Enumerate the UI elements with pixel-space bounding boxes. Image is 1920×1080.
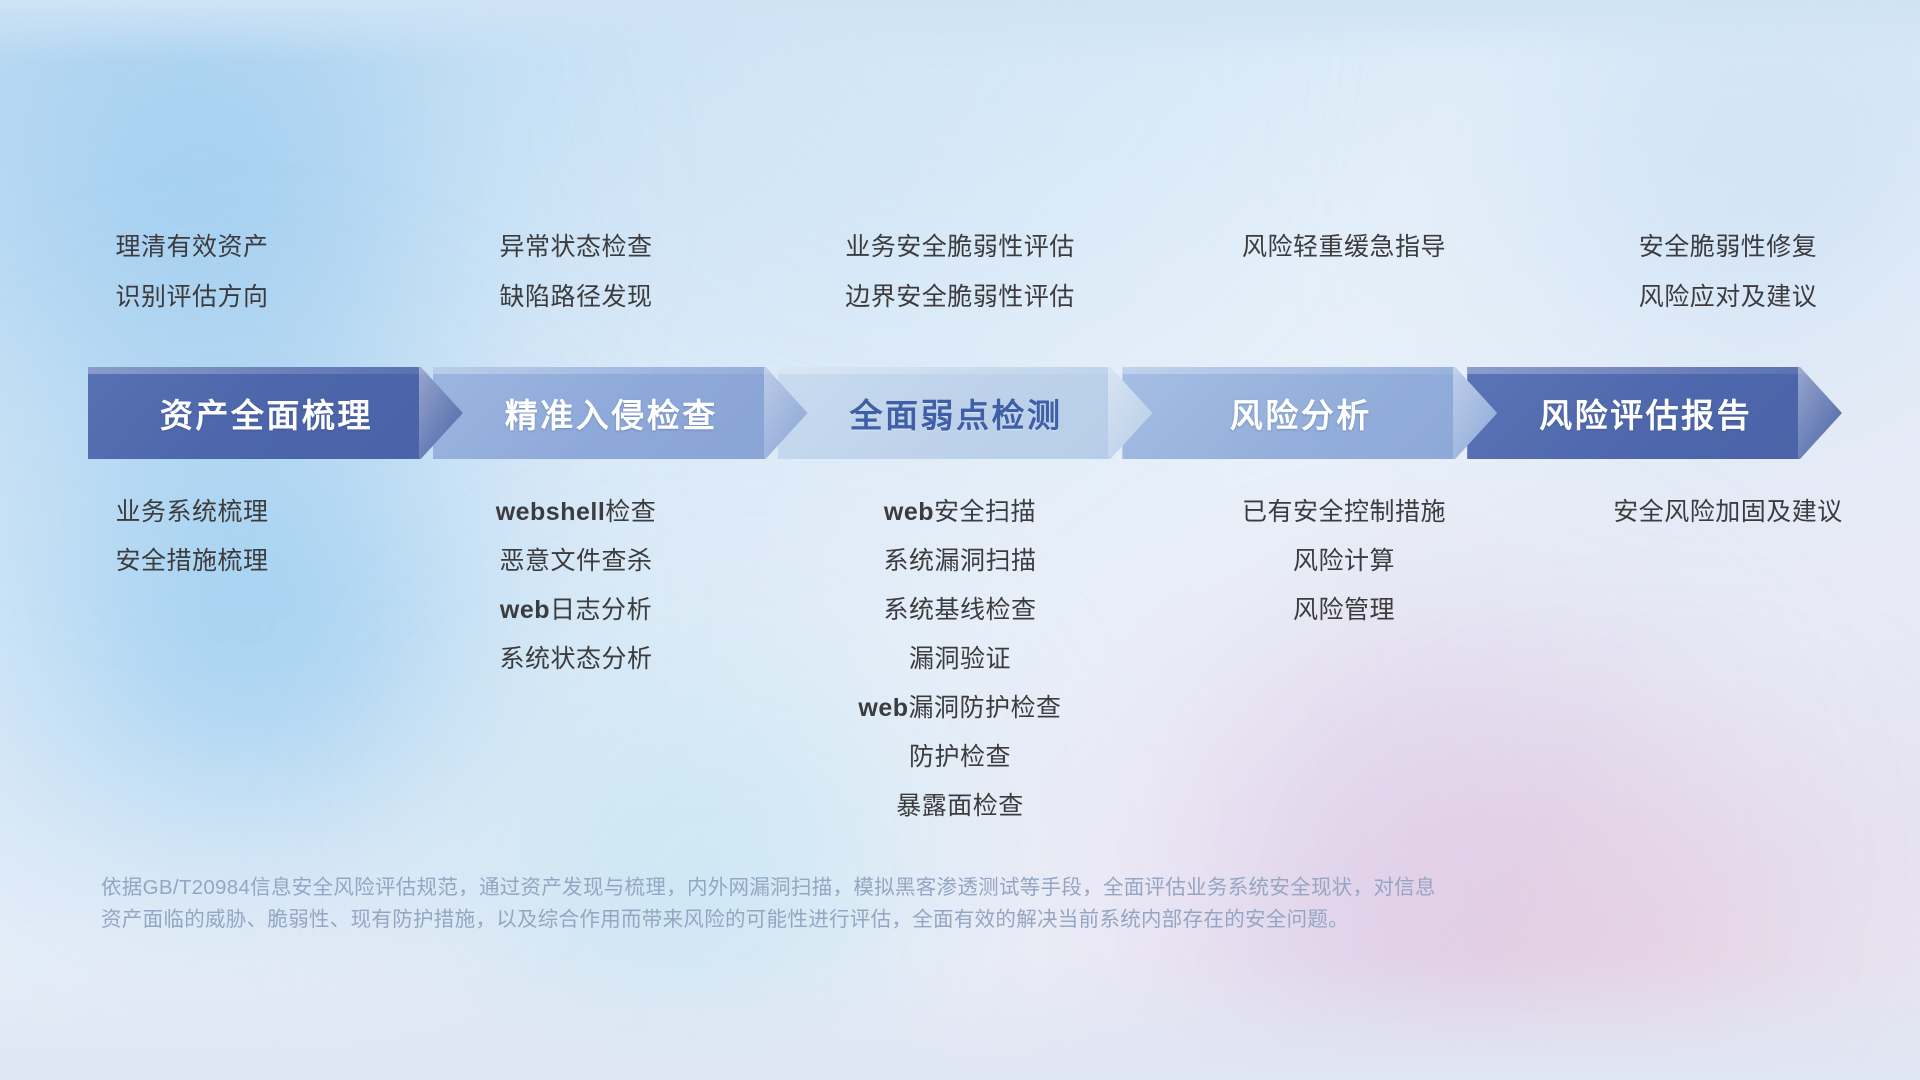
activity-text: 风险计算 bbox=[1293, 547, 1395, 575]
chevron-highlight bbox=[433, 367, 808, 374]
outcome-item: 边界安全脆弱性评估 bbox=[768, 285, 1152, 310]
outcome-item: 识别评估方向 bbox=[0, 285, 384, 310]
activity-item: 安全措施梳理 bbox=[0, 549, 384, 574]
activity-item: webshell检查 bbox=[384, 500, 768, 525]
activity-text: 漏洞防护检查 bbox=[909, 694, 1062, 722]
outcome-item: 缺陷路径发现 bbox=[384, 285, 768, 310]
stage-activities-1: 业务系统梳理 安全措施梳理 bbox=[0, 500, 384, 843]
stage-activities-5: 安全风险加固及建议 bbox=[1536, 500, 1920, 843]
stage-activities-3: web安全扫描 系统漏洞扫描 系统基线检查 漏洞验证 web漏洞防护检查 防护检… bbox=[768, 500, 1152, 843]
chevron-label: 风险评估报告 bbox=[1539, 389, 1752, 437]
activity-item: 业务系统梳理 bbox=[0, 500, 384, 525]
chevron-label: 资产全面梳理 bbox=[160, 389, 373, 437]
activity-text: 日志分析 bbox=[550, 596, 652, 624]
outcome-item: 业务安全脆弱性评估 bbox=[768, 235, 1152, 260]
stage-outcomes-2: 异常状态检查 缺陷路径发现 bbox=[384, 235, 768, 335]
chevron-highlight bbox=[778, 367, 1153, 374]
activity-text: 风险管理 bbox=[1293, 596, 1395, 624]
activity-item: web安全扫描 bbox=[768, 500, 1152, 525]
chevron-stage-5[interactable]: 风险评估报告 bbox=[1467, 367, 1842, 459]
chevron-highlight bbox=[1122, 367, 1497, 374]
activity-text: 已有安全控制措施 bbox=[1242, 498, 1446, 526]
activity-emphasis: webshell bbox=[496, 498, 606, 526]
outcome-item: 风险应对及建议 bbox=[1536, 285, 1920, 310]
footer-line-2: 资产面临的威胁、脆弱性、现有防护措施，以及综合作用而带来风险的可能性进行评估，全… bbox=[101, 904, 1591, 936]
activity-item: 暴露面检查 bbox=[768, 794, 1152, 819]
chevron-highlight bbox=[1467, 367, 1842, 374]
activity-text: 系统状态分析 bbox=[499, 645, 652, 673]
activity-text: 恶意文件查杀 bbox=[499, 547, 652, 575]
chevron-stage-2[interactable]: 精准入侵检查 bbox=[433, 367, 808, 459]
activity-item: web漏洞防护检查 bbox=[768, 696, 1152, 721]
stage-activities-2: webshell检查 恶意文件查杀 web日志分析 系统状态分析 bbox=[384, 500, 768, 843]
outcome-item: 风险轻重缓急指导 bbox=[1152, 235, 1536, 260]
stage-outcomes-5: 安全脆弱性修复 风险应对及建议 bbox=[1536, 235, 1920, 335]
stage-outcomes-4: 风险轻重缓急指导 bbox=[1152, 235, 1536, 335]
activity-emphasis: web bbox=[858, 694, 908, 722]
activity-text: 检查 bbox=[605, 498, 656, 526]
stage-outcomes-1: 理清有效资产 识别评估方向 bbox=[0, 235, 384, 335]
activity-text: 业务系统梳理 bbox=[115, 498, 268, 526]
activity-item: 恶意文件查杀 bbox=[384, 549, 768, 574]
activity-text: 安全风险加固及建议 bbox=[1613, 498, 1843, 526]
activity-text: 暴露面检查 bbox=[896, 792, 1024, 820]
activity-item: 系统基线检查 bbox=[768, 598, 1152, 623]
outcome-item: 安全脆弱性修复 bbox=[1536, 235, 1920, 260]
activity-text: 系统基线检查 bbox=[883, 596, 1036, 624]
process-chevron-row: 资产全面梳理 精准入侵检查 全面弱点检测 风险分析 风险评估报告 bbox=[88, 367, 1842, 459]
activity-item: 漏洞验证 bbox=[768, 647, 1152, 672]
chevron-highlight bbox=[88, 367, 463, 374]
activity-item: 风险计算 bbox=[1152, 549, 1536, 574]
activity-item: 系统状态分析 bbox=[384, 647, 768, 672]
outcome-item: 理清有效资产 bbox=[0, 235, 384, 260]
stage-activities-row: 业务系统梳理 安全措施梳理 webshell检查 恶意文件查杀 web日志分析 … bbox=[0, 500, 1920, 843]
activity-text: 系统漏洞扫描 bbox=[883, 547, 1036, 575]
activity-text: 安全措施梳理 bbox=[115, 547, 268, 575]
activity-text: 防护检查 bbox=[909, 743, 1011, 771]
chevron-arrow-edge-icon bbox=[1798, 367, 1842, 459]
activity-item: 安全风险加固及建议 bbox=[1536, 500, 1920, 525]
activity-emphasis: web bbox=[884, 498, 934, 526]
infographic-stage: 理清有效资产 识别评估方向 异常状态检查 缺陷路径发现 业务安全脆弱性评估 边界… bbox=[0, 0, 1920, 1080]
chevron-stage-4[interactable]: 风险分析 bbox=[1122, 367, 1497, 459]
chevron-label: 全面弱点检测 bbox=[849, 389, 1062, 437]
stage-outcomes-3: 业务安全脆弱性评估 边界安全脆弱性评估 bbox=[768, 235, 1152, 335]
chevron-label: 风险分析 bbox=[1230, 389, 1372, 437]
chevron-stage-1[interactable]: 资产全面梳理 bbox=[88, 367, 463, 459]
stage-activities-4: 已有安全控制措施 风险计算 风险管理 bbox=[1152, 500, 1536, 843]
activity-text: 漏洞验证 bbox=[909, 645, 1011, 673]
activity-item: 已有安全控制措施 bbox=[1152, 500, 1536, 525]
footer-line-1: 依据GB/T20984信息安全风险评估规范，通过资产发现与梳理，内外网漏洞扫描，… bbox=[101, 872, 1591, 904]
activity-item: 防护检查 bbox=[768, 745, 1152, 770]
activity-item: 风险管理 bbox=[1152, 598, 1536, 623]
activity-text: 安全扫描 bbox=[934, 498, 1036, 526]
activity-emphasis: web bbox=[500, 596, 550, 624]
chevron-stage-3[interactable]: 全面弱点检测 bbox=[778, 367, 1153, 459]
chevron-label: 精准入侵检查 bbox=[505, 389, 718, 437]
activity-item: 系统漏洞扫描 bbox=[768, 549, 1152, 574]
activity-item: web日志分析 bbox=[384, 598, 768, 623]
outcome-item: 异常状态检查 bbox=[384, 235, 768, 260]
footer-description: 依据GB/T20984信息安全风险评估规范，通过资产发现与梳理，内外网漏洞扫描，… bbox=[101, 872, 1591, 936]
stage-outcomes-row: 理清有效资产 识别评估方向 异常状态检查 缺陷路径发现 业务安全脆弱性评估 边界… bbox=[0, 235, 1920, 335]
